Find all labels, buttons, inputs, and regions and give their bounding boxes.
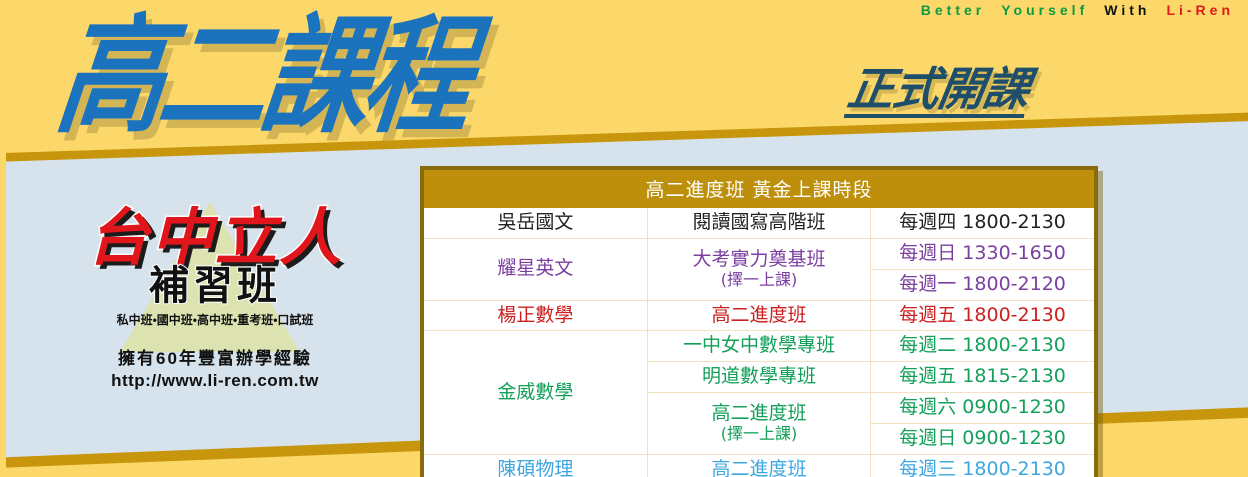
logo-experience-line: 擁有60年豐富辦學經驗: [50, 344, 380, 369]
schedule-table-body: 吳岳國文閱讀國寫高階班每週四 1800-2130耀星英文大考實力奠基班(擇一上課…: [424, 208, 1094, 477]
schedule-table-container: 高二進度班 黃金上課時段 吳岳國文閱讀國寫高階班每週四 1800-2130耀星英…: [420, 166, 1098, 477]
cell-time: 每週六 0900-1230: [871, 393, 1094, 424]
course-name: 高二進度班: [711, 402, 806, 424]
course-note: (擇一上課): [654, 271, 864, 289]
tagline-word-liren: Li-Ren: [1166, 2, 1234, 18]
course-name: 高二進度班: [711, 458, 806, 477]
table-row: 耀星英文大考實力奠基班(擇一上課)每週日 1330-1650: [424, 238, 1094, 269]
cell-course: 高二進度班: [647, 300, 870, 331]
logo-subname: 補習班: [50, 265, 380, 307]
cell-time: 每週日 1330-1650: [871, 238, 1094, 269]
poster-canvas: BetterYourselfWithLi-Ren 高二課程 正式開課 台中立人 …: [0, 0, 1248, 477]
logo-website-url: http://www.li-ren.com.tw: [50, 371, 380, 391]
course-name: 大考實力奠基班: [692, 248, 825, 270]
course-name: 明道數學專班: [702, 365, 816, 387]
cell-course: 高二進度班: [647, 454, 870, 477]
schedule-table-head: 高二進度班 黃金上課時段: [424, 170, 1094, 208]
cell-teacher: 吳岳國文: [424, 208, 647, 238]
course-name: 一中女中數學專班: [683, 334, 835, 356]
tagline-word-yourself: Yourself: [1001, 2, 1088, 18]
schedule-table: 高二進度班 黃金上課時段 吳岳國文閱讀國寫高階班每週四 1800-2130耀星英…: [424, 170, 1094, 477]
tagline: BetterYourselfWithLi-Ren: [905, 2, 1234, 18]
cell-course: 大考實力奠基班(擇一上課): [647, 238, 870, 300]
logo-name: 台中立人: [50, 206, 380, 269]
cell-time: 每週一 1800-2120: [871, 269, 1094, 300]
cell-course: 閱讀國寫高階班: [647, 208, 870, 238]
table-row: 陳碩物理高二進度班每週三 1800-2130: [424, 454, 1094, 477]
cell-time: 每週五 1815-2130: [871, 362, 1094, 393]
cell-teacher: 楊正數學: [424, 300, 647, 331]
logo-class-categories: 私中班•國中班•高中班•重考班•口試班: [50, 311, 380, 328]
cell-time: 每週三 1800-2130: [871, 454, 1094, 477]
cell-time: 每週四 1800-2130: [871, 208, 1094, 238]
cell-teacher: 金威數學: [424, 331, 647, 454]
cell-time: 每週二 1800-2130: [871, 331, 1094, 362]
cell-course: 明道數學專班: [647, 362, 870, 393]
course-name: 高二進度班: [711, 304, 806, 326]
cell-time: 每週五 1800-2130: [871, 300, 1094, 331]
table-header-title: 高二進度班 黃金上課時段: [424, 170, 1094, 208]
tagline-word-better: Better: [921, 2, 985, 18]
cell-course: 一中女中數學專班: [647, 331, 870, 362]
table-row: 吳岳國文閱讀國寫高階班每週四 1800-2130: [424, 208, 1094, 238]
brand-logo: 台中立人 補習班 私中班•國中班•高中班•重考班•口試班 擁有60年豐富辦學經驗…: [50, 200, 380, 420]
table-row: 楊正數學高二進度班每週五 1800-2130: [424, 300, 1094, 331]
page-title: 高二課程: [50, 14, 474, 141]
left-yellow-edge: [0, 0, 6, 477]
tagline-word-with: With: [1104, 2, 1150, 18]
course-name: 閱讀國寫高階班: [692, 211, 825, 233]
table-row: 金威數學一中女中數學專班每週二 1800-2130: [424, 331, 1094, 362]
cell-time: 每週日 0900-1230: [871, 423, 1094, 454]
table-header-row: 高二進度班 黃金上課時段: [424, 170, 1094, 208]
cell-course: 高二進度班(擇一上課): [647, 393, 870, 455]
page-subtitle: 正式開課: [844, 66, 1032, 118]
cell-teacher: 耀星英文: [424, 238, 647, 300]
cell-teacher: 陳碩物理: [424, 454, 647, 477]
course-note: (擇一上課): [654, 425, 864, 443]
